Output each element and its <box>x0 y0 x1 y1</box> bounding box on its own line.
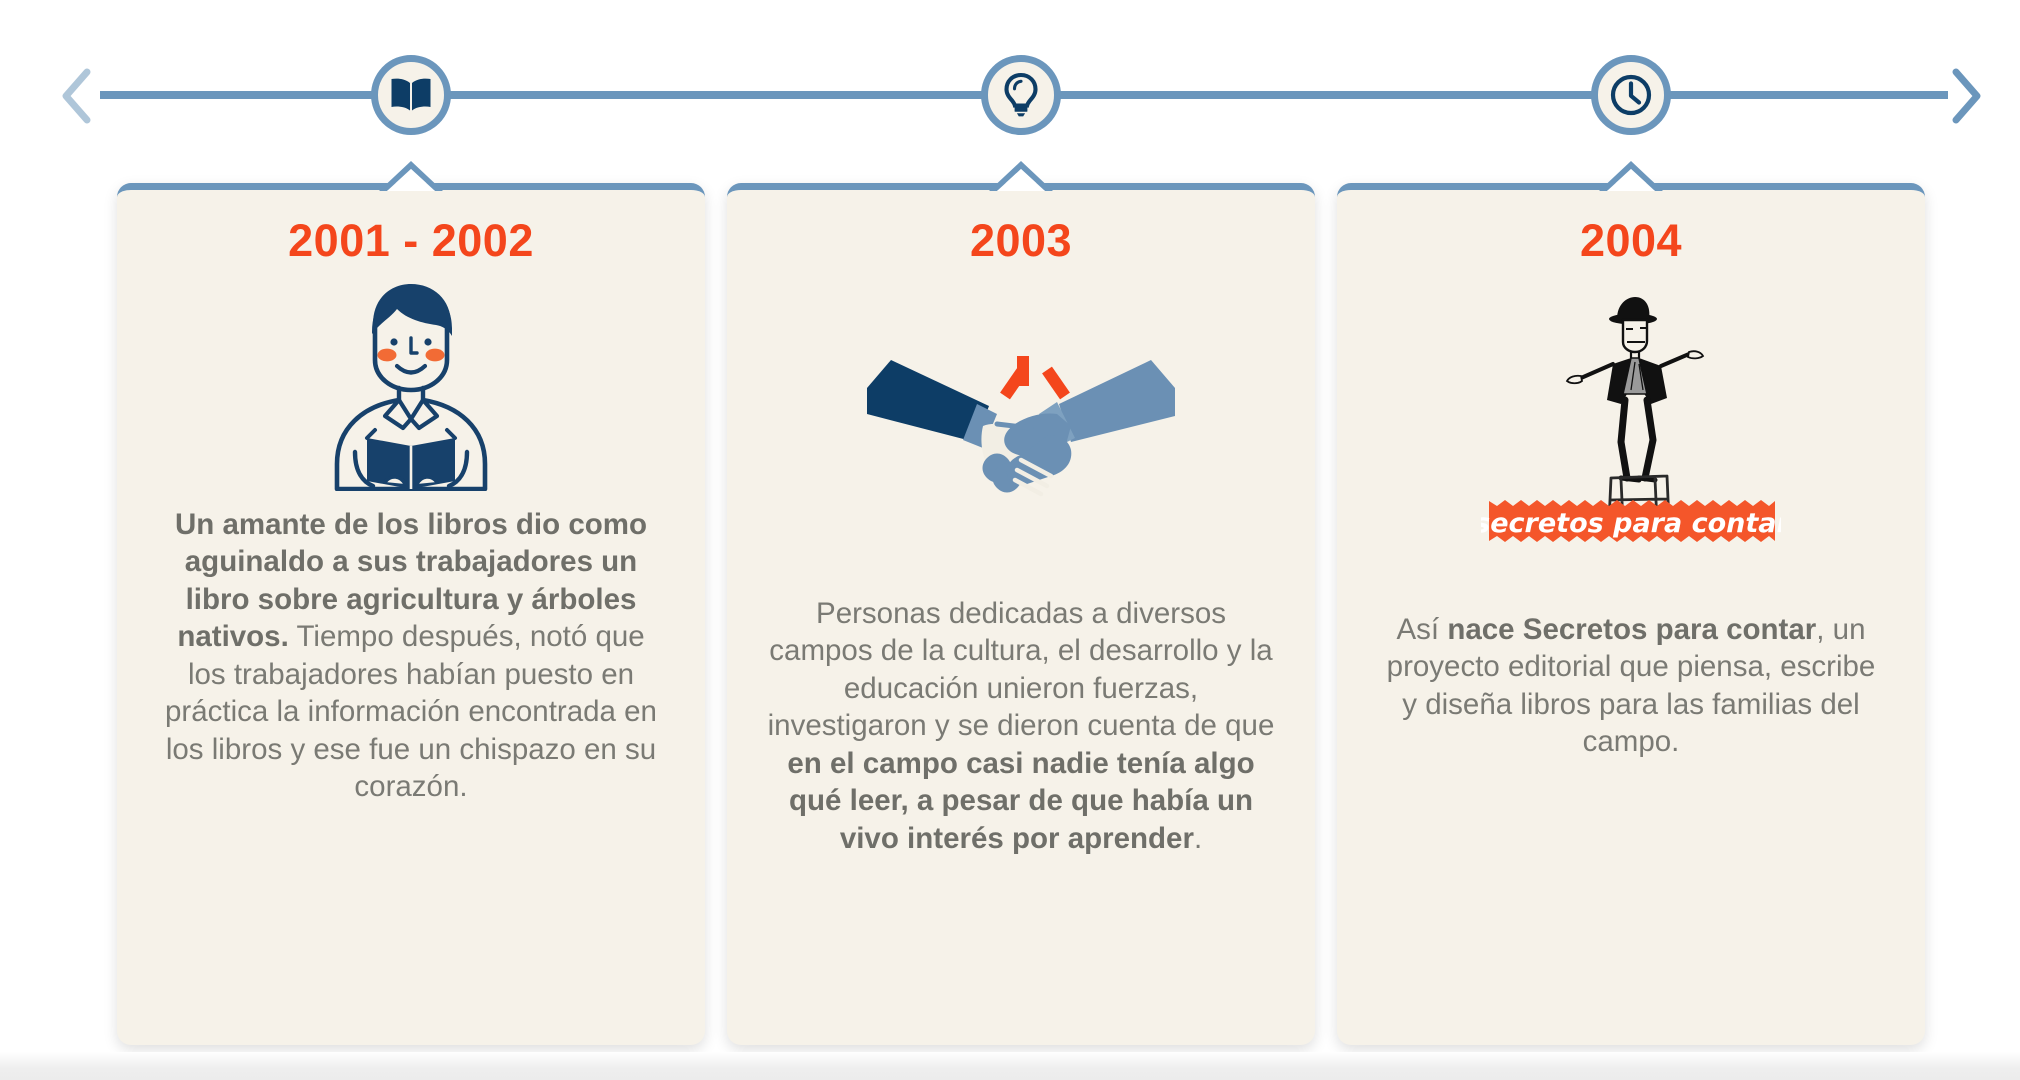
timeline-cards-row: 2001 - 2002 <box>0 183 2020 1055</box>
card-illustration-man-reading <box>157 271 665 496</box>
handshake-illustration <box>851 330 1191 510</box>
timeline-rail <box>0 0 2020 150</box>
chevron-right-icon <box>1948 67 1982 125</box>
card-illustration-secretos-logo: secretos para contar <box>1377 279 1885 549</box>
logo-banner-text: secretos para contar <box>1481 508 1781 539</box>
card-body-text: Un amante de los libros dio como aguinal… <box>157 506 665 806</box>
card-body-plain-segment: Personas dedicadas a diversos campos de … <box>768 597 1275 742</box>
secretos-para-contar-logo: secretos para contar <box>1481 282 1781 547</box>
timeline-prev-button[interactable] <box>60 67 94 125</box>
timeline-line-segment <box>445 91 987 99</box>
timeline-card-2004[interactable]: 2004 <box>1337 183 1925 1045</box>
card-pointer-notch <box>379 159 443 191</box>
card-year-heading: 2003 <box>767 215 1275 267</box>
timeline-line-segment <box>1665 91 1948 99</box>
card-body-text: Personas dedicadas a diversos campos de … <box>767 595 1275 857</box>
card-pointer-notch <box>1599 159 1663 191</box>
timeline-card-2001-2002[interactable]: 2001 - 2002 <box>117 183 705 1045</box>
timeline-node-2001-2002[interactable] <box>371 55 451 135</box>
timeline-node-2003[interactable] <box>981 55 1061 135</box>
timeline-line-segment <box>100 91 376 99</box>
timeline-line-segment <box>1055 91 1597 99</box>
card-pointer-notch <box>989 159 1053 191</box>
card-body-text: Así nace Secretos para contar, un proyec… <box>1377 611 1885 761</box>
card-body-bold-segment: en el campo casi nadie tenía algo qué le… <box>787 747 1254 855</box>
card-year-heading: 2004 <box>1377 215 1885 267</box>
chevron-left-icon <box>60 67 94 125</box>
card-body-plain-segment: . <box>1194 822 1202 855</box>
open-book-icon <box>389 76 433 114</box>
man-reading-book-illustration <box>311 276 511 491</box>
page-footer-strip <box>0 1052 2020 1080</box>
timeline-page: 2001 - 2002 <box>0 0 2020 1080</box>
lightbulb-icon <box>1003 72 1039 118</box>
card-year-heading: 2001 - 2002 <box>157 215 665 267</box>
clock-icon <box>1609 73 1653 117</box>
timeline-node-2004[interactable] <box>1591 55 1671 135</box>
card-body-bold-segment: nace Secretos para contar <box>1447 613 1816 646</box>
timeline-card-2003[interactable]: 2003 <box>727 183 1315 1045</box>
card-illustration-handshake <box>767 295 1275 545</box>
timeline-next-button[interactable] <box>1948 67 1982 125</box>
card-body-plain-segment: Así <box>1397 613 1448 646</box>
